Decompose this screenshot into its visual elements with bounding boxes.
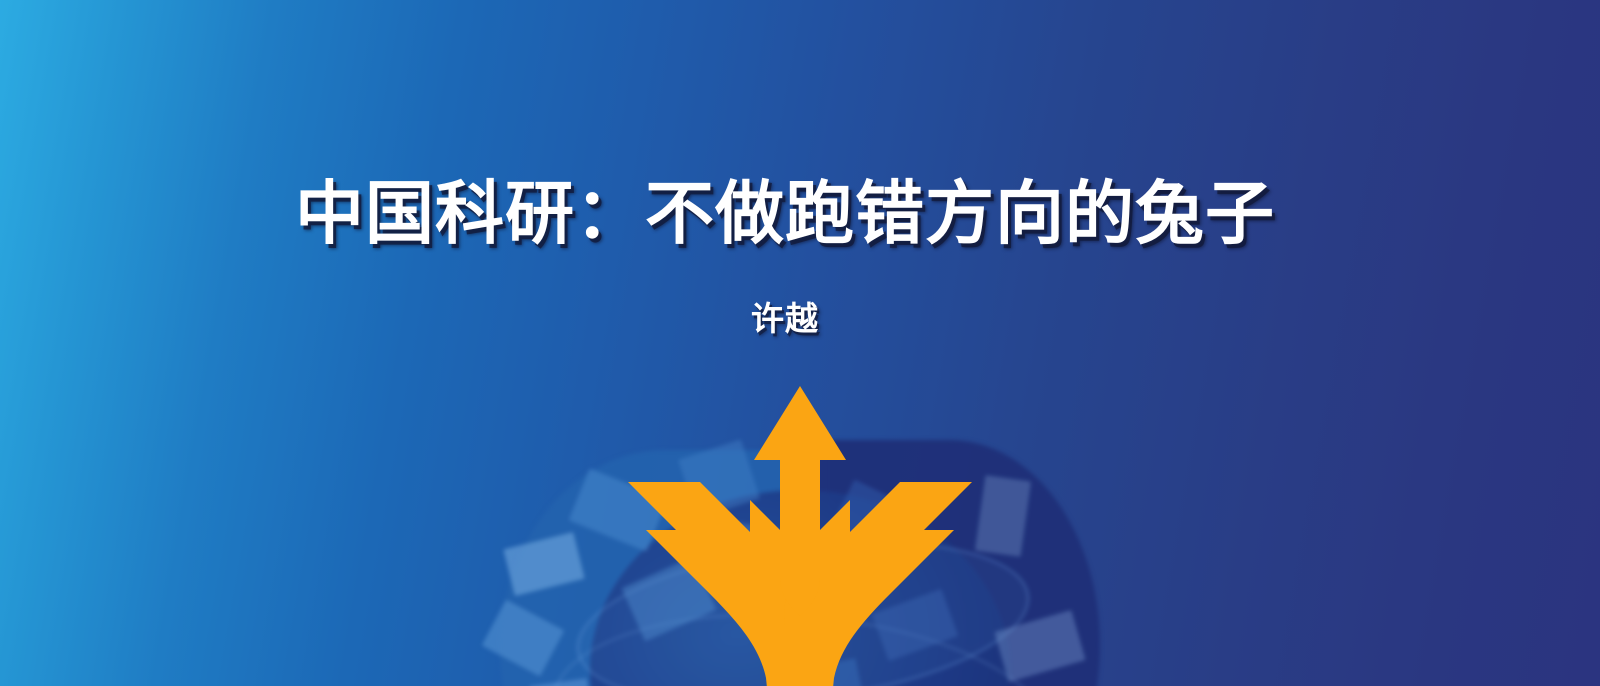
three-way-arrow-icon [608,378,992,686]
slide-subtitle-author: 许越 [0,292,1570,340]
decorative-artwork [0,0,1600,686]
page-title: 中国科研：不做跑错方向的兔子 [0,178,1570,250]
presentation-slide: 中国科研：不做跑错方向的兔子 许越 [0,0,1600,686]
